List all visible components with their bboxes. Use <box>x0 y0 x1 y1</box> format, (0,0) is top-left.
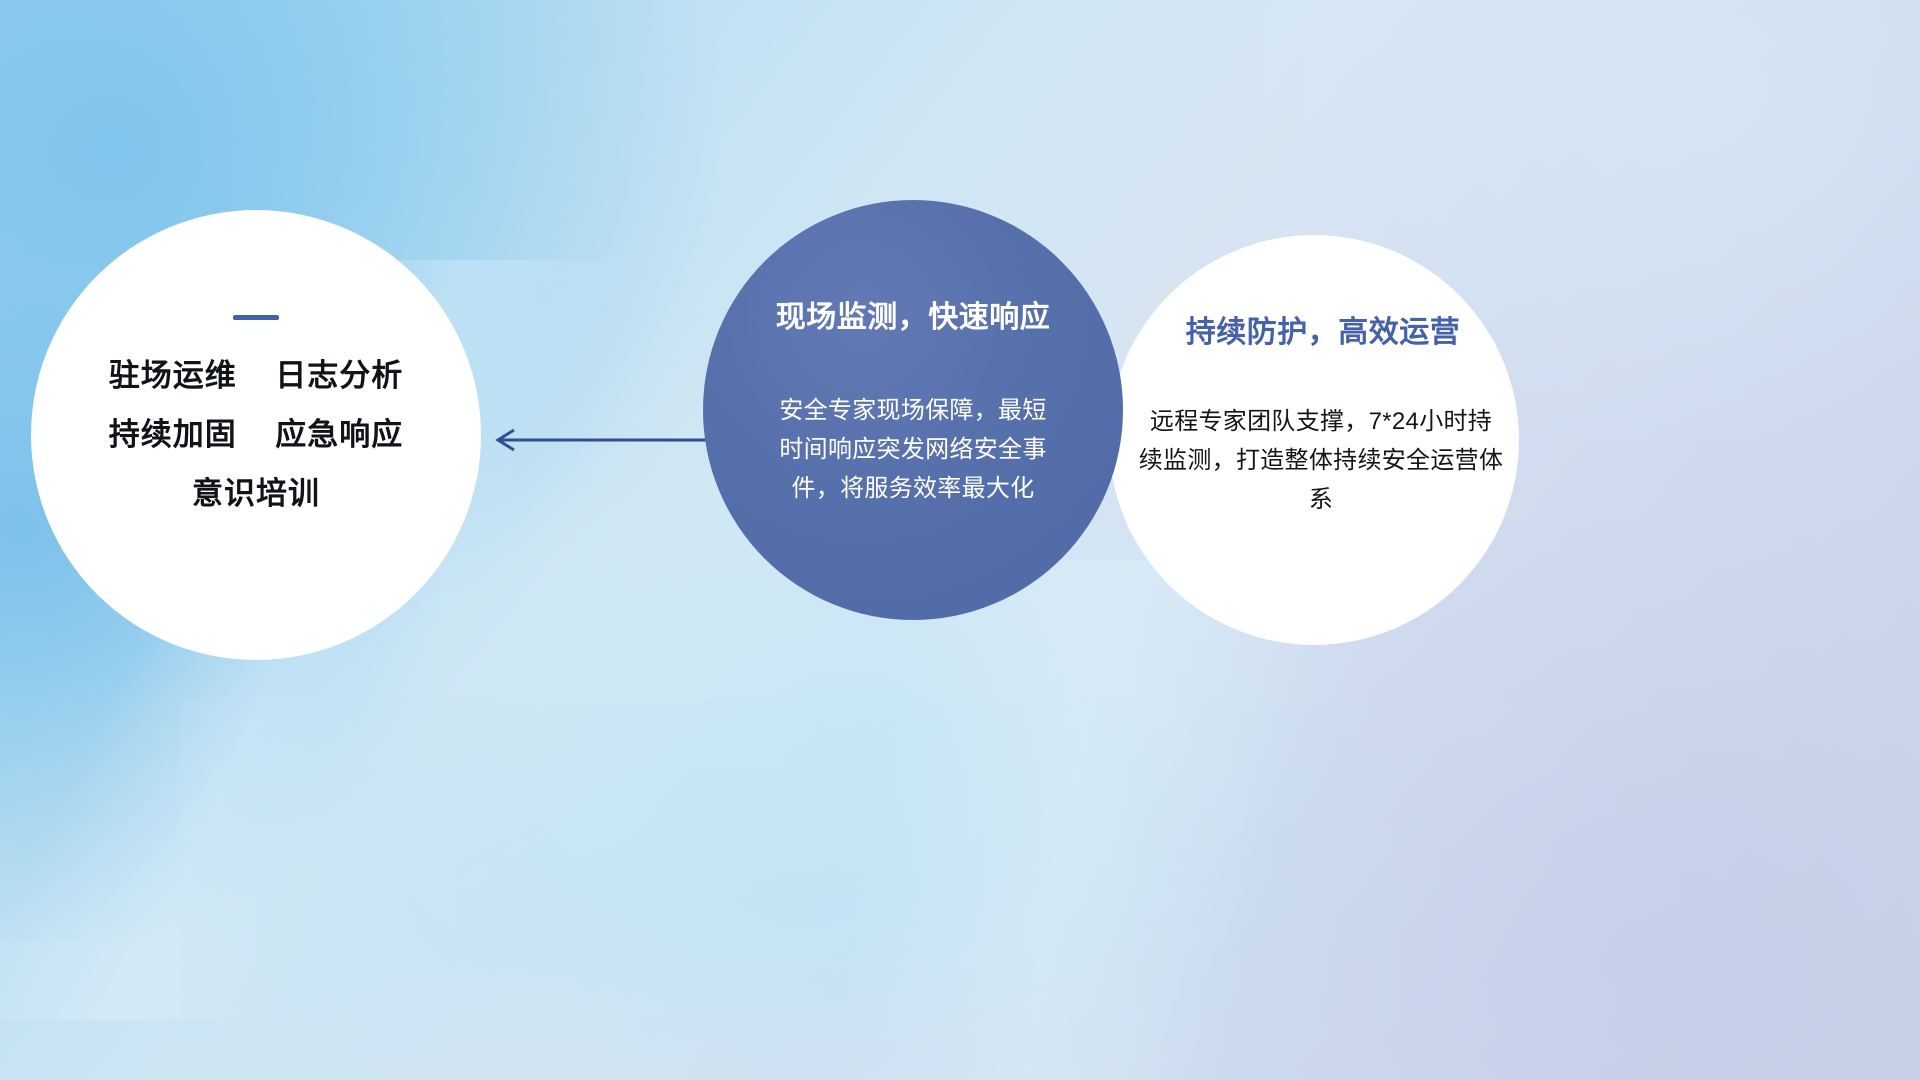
left-circle-line-3: 意识培训 <box>192 478 320 509</box>
capability-circle-middle[interactable]: 现场监测，快速响应 安全专家现场保障，最短时间响应突发网络安全事件，将服务效率最… <box>703 200 1123 620</box>
middle-circle-title: 现场监测，快速响应 <box>776 292 1051 336</box>
middle-circle-content: 现场监测，快速响应 安全专家现场保障，最短时间响应突发网络安全事件，将服务效率最… <box>703 200 1123 620</box>
flow-arrow-icon <box>490 420 715 460</box>
right-circle-content: 持续防护，高效运营 远程专家团队支撑，7*24小时持续监测，打造整体持续安全运营… <box>1109 235 1519 645</box>
middle-circle-body: 安全专家现场保障，最短时间响应突发网络安全事件，将服务效率最大化 <box>768 392 1058 509</box>
capability-circle-right[interactable]: 持续防护，高效运营 远程专家团队支撑，7*24小时持续监测，打造整体持续安全运营… <box>1109 235 1519 645</box>
capability-circle-left[interactable]: 驻场运维 日志分析 持续加固 应急响应 意识培训 <box>31 210 481 660</box>
left-circle-line-2: 持续加固 应急响应 <box>109 419 403 450</box>
right-circle-body: 远程专家团队支撑，7*24小时持续监测，打造整体持续安全运营体系 <box>1138 403 1504 520</box>
left-circle-line-1: 驻场运维 日志分析 <box>109 360 403 391</box>
right-circle-title: 持续防护，高效运营 <box>1186 307 1461 351</box>
horizontal-dash-icon <box>233 315 279 320</box>
left-circle-content: 驻场运维 日志分析 持续加固 应急响应 意识培训 <box>31 210 481 660</box>
